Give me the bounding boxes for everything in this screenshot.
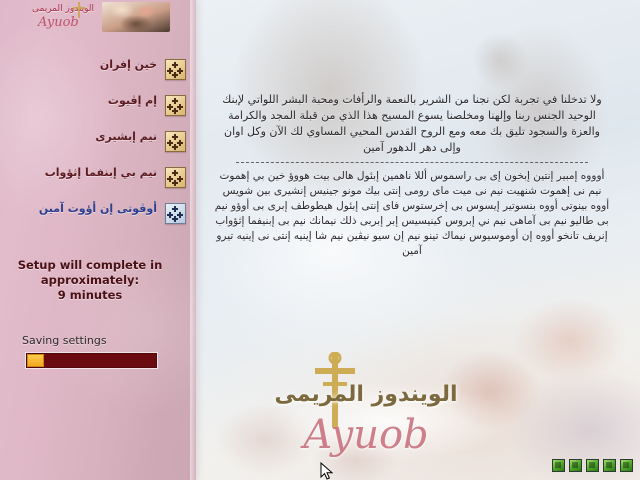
sidebar-item-label: إم إڤيوت xyxy=(16,94,157,107)
tray-icon-5[interactable] xyxy=(552,459,565,472)
sidebar-item-1[interactable]: إم إڤيوت xyxy=(0,92,196,118)
mouse-pointer-icon xyxy=(320,462,334,480)
coptic-cross-icon xyxy=(165,167,186,188)
setup-screen: الويندوز المريمى Ayuob خين إفران xyxy=(0,0,640,480)
sidebar-item-2[interactable]: نيم إبشيرى xyxy=(0,128,196,154)
sidebar-item-0[interactable]: خين إفران xyxy=(0,56,196,82)
brand-logo: الويندوز المريمى Ayuob xyxy=(14,2,164,34)
sidebar-item-label: خين إفران xyxy=(16,58,157,71)
prayer-paragraph-arabic: ولا تدخلنا في تجربة لكن نجنا من الشرير ب… xyxy=(212,92,612,156)
setup-note-line1: Setup will complete in xyxy=(18,258,163,272)
coptic-cross-icon xyxy=(165,95,186,116)
sidebar-item-3[interactable]: نيم بي إبنفما إثؤواب xyxy=(0,164,196,190)
sidebar: الويندوز المريمى Ayuob خين إفران xyxy=(0,0,196,480)
setup-minutes-remaining: 9 minutes xyxy=(0,288,180,303)
prayer-text-panel: ولا تدخلنا في تجربة لكن نجنا من الشرير ب… xyxy=(212,92,612,259)
setup-time-estimate: Setup will complete in approximately: 9 … xyxy=(0,258,180,303)
setup-note-line2: approximately: xyxy=(41,273,139,287)
progress-bar xyxy=(25,352,158,369)
tray-icons xyxy=(552,459,633,472)
tray-icon-1[interactable] xyxy=(620,459,633,472)
coptic-cross-icon xyxy=(165,131,186,152)
tray-icon-3[interactable] xyxy=(586,459,599,472)
coptic-cross-icon xyxy=(72,2,86,18)
sidebar-item-label: نيم إبشيرى xyxy=(16,130,157,143)
tray-icon-4[interactable] xyxy=(569,459,582,472)
coptic-cross-icon xyxy=(165,203,186,224)
sidebar-menu: خين إفران إم إڤيوت نيم إبشيرى xyxy=(0,56,196,236)
sidebar-item-4-current[interactable]: أوڤوتى إن أؤوت آمين xyxy=(0,200,196,226)
sidebar-item-label: أوڤوتى إن أؤوت آمين xyxy=(16,202,157,215)
coptic-cross-icon xyxy=(165,59,186,80)
tray-icon-2[interactable] xyxy=(603,459,616,472)
sidebar-edge-highlight xyxy=(190,0,197,480)
text-divider xyxy=(236,162,588,163)
saint-image-thumbnail xyxy=(102,2,170,32)
background-figure-left xyxy=(205,330,405,480)
status-text: Saving settings xyxy=(22,334,107,347)
sidebar-item-label: نيم بي إبنفما إثؤواب xyxy=(16,166,157,179)
prayer-paragraph-coptic: أوووه إمبير إنتين إبخون إى بى راسموس ألل… xyxy=(212,169,612,259)
progress-bar-block xyxy=(27,354,44,367)
